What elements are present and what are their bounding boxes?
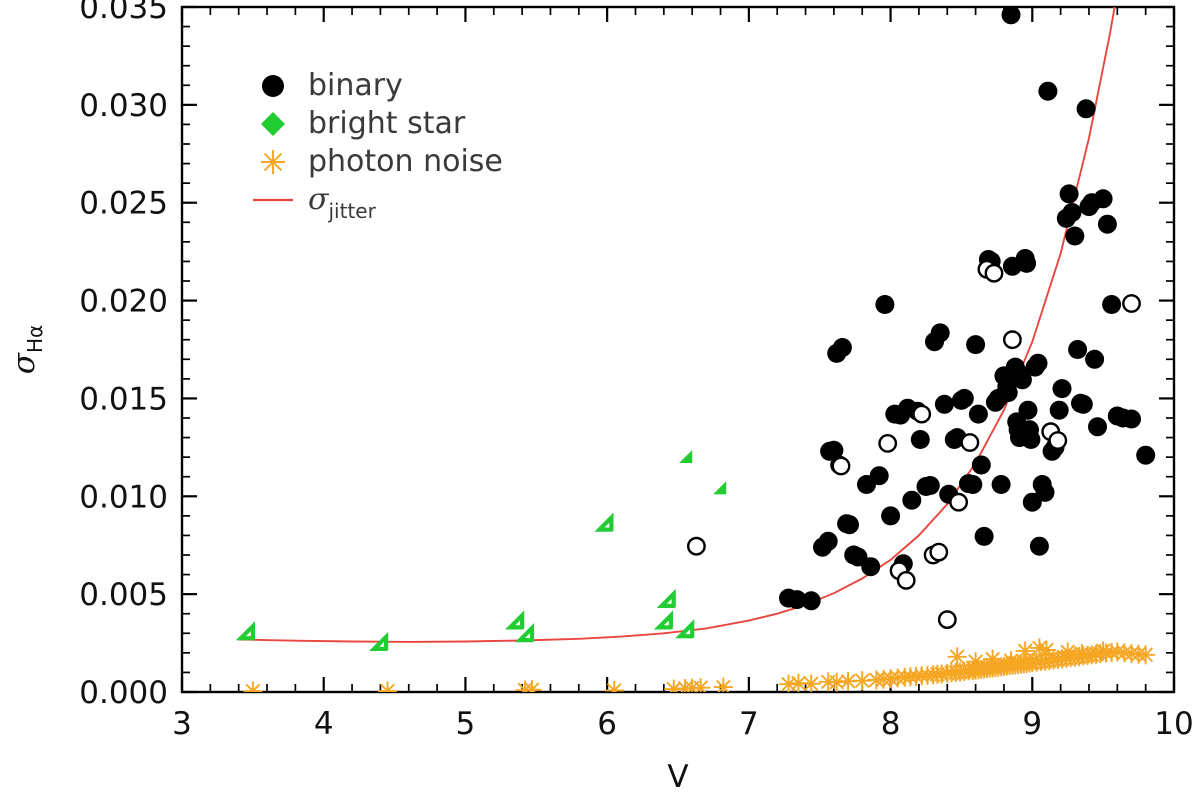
- bright-star-open-marker: [662, 594, 674, 606]
- y-tick-label: 0.035: [79, 0, 168, 26]
- binary-marker: [1136, 446, 1155, 465]
- bright-star-open-marker: [241, 626, 253, 638]
- scatter-plot-canvas: 345678910 0.0000.0050.0100.0150.0200.025…: [0, 0, 1200, 805]
- photon-noise-marker: [1016, 641, 1035, 660]
- binary-marker: [1098, 215, 1117, 234]
- legend-label: σjitter: [308, 182, 377, 223]
- binary-marker: [802, 591, 821, 610]
- y-tick-label: 0.005: [79, 577, 168, 613]
- binary-marker: [1050, 401, 1069, 420]
- binary-marker: [999, 383, 1018, 402]
- bright-star-marker: [713, 481, 726, 494]
- photon-noise-marker: [1072, 644, 1091, 663]
- y-tick-label: 0.010: [79, 479, 168, 515]
- binary-marker: [875, 295, 894, 314]
- binary-marker: [972, 456, 991, 475]
- x-axis-title: V: [667, 759, 688, 795]
- y-axis-tick-labels: 0.0000.0050.0100.0150.0200.0250.0300.035: [79, 0, 168, 711]
- bright-star-open-marker: [374, 637, 386, 649]
- legend-item-bright-star: bright star: [261, 106, 466, 141]
- figure-root: 345678910 0.0000.0050.0100.0150.0200.025…: [0, 0, 1200, 805]
- binary-marker: [1053, 379, 1072, 398]
- binary-open-marker: [880, 435, 896, 451]
- binary-marker: [819, 532, 838, 551]
- y-tick-label: 0.000: [79, 675, 168, 711]
- photon-noise-marker: [243, 682, 262, 701]
- x-tick-label: 3: [172, 706, 192, 742]
- x-tick-label: 6: [597, 706, 617, 742]
- binary-marker: [1122, 410, 1141, 429]
- binary-open-marker: [962, 434, 978, 450]
- legend-binary-icon: [262, 75, 284, 97]
- photon-noise-marker: [983, 650, 1002, 669]
- photon-noise-marker: [779, 675, 798, 694]
- y-tick-label: 0.030: [79, 88, 168, 124]
- binary-marker: [1036, 483, 1055, 502]
- binary-marker: [881, 506, 900, 525]
- binary-marker: [902, 491, 921, 510]
- legend-item-photon-noise: photon noise: [261, 144, 503, 179]
- bright-star-open-marker: [510, 615, 522, 627]
- y-tick-label: 0.020: [79, 284, 168, 320]
- binary-marker: [1029, 354, 1048, 373]
- binary-open-marker: [1050, 432, 1066, 448]
- legend-label: photon noise: [308, 144, 503, 179]
- binary-marker: [911, 430, 930, 449]
- binary-marker: [969, 405, 988, 424]
- photon-noise-marker: [714, 678, 733, 697]
- photon-noise-marker: [1136, 645, 1155, 664]
- binary-marker: [1065, 227, 1084, 246]
- binary-marker: [861, 557, 880, 576]
- x-tick-label: 5: [456, 706, 476, 742]
- x-tick-label: 4: [314, 706, 334, 742]
- binary-open-marker: [898, 572, 914, 588]
- binary-marker: [1060, 184, 1079, 203]
- binary-marker: [1085, 350, 1104, 369]
- binary-open-marker: [950, 494, 966, 510]
- photon-noise-marker: [691, 678, 710, 697]
- binary-marker: [1077, 99, 1096, 118]
- binary-marker: [1063, 203, 1082, 222]
- bright-star-marker: [679, 450, 692, 463]
- photon-noise-marker: [605, 681, 624, 700]
- binary-marker: [1002, 5, 1021, 24]
- binary-marker: [840, 515, 859, 534]
- binary-marker: [992, 475, 1011, 494]
- x-tick-label: 8: [881, 706, 901, 742]
- legend-label: bright star: [308, 106, 466, 141]
- binary-marker: [966, 335, 985, 354]
- binary-marker: [963, 475, 982, 494]
- photon-noise-marker: [1094, 641, 1113, 660]
- legend-item--jitter: σjitter: [253, 182, 377, 223]
- binary-marker: [931, 323, 950, 342]
- binary-marker: [1102, 295, 1121, 314]
- y-axis-title: σHα: [6, 325, 47, 374]
- legend-item-binary: binary: [262, 68, 403, 103]
- binary-marker: [870, 466, 889, 485]
- y-tick-label: 0.025: [79, 186, 168, 222]
- binary-marker: [1038, 82, 1057, 101]
- binary-marker: [1021, 430, 1040, 449]
- bright-star-open-marker: [520, 628, 532, 640]
- binary-marker: [1017, 254, 1036, 273]
- binary-open-marker: [939, 611, 955, 627]
- binary-open-marker: [986, 265, 1002, 281]
- binary-marker: [1068, 340, 1087, 359]
- x-tick-label: 7: [739, 706, 759, 742]
- binary-marker: [833, 338, 852, 357]
- binary-open-marker: [1123, 295, 1139, 311]
- photon-noise-marker: [802, 674, 821, 693]
- photon-noise-marker: [1058, 642, 1077, 661]
- legend-label: binary: [308, 68, 403, 103]
- photon-noise-marker: [1037, 640, 1056, 659]
- bright-star-open-marker: [659, 615, 671, 627]
- binary-marker: [935, 395, 954, 414]
- bright-star-open-marker: [599, 518, 611, 530]
- binary-open-marker: [833, 458, 849, 474]
- binary-marker: [1030, 537, 1049, 556]
- binary-marker: [1074, 395, 1093, 414]
- binary-open-marker: [914, 406, 930, 422]
- binary-open-marker: [688, 538, 704, 554]
- binary-marker: [1088, 417, 1107, 436]
- binary-open-marker: [931, 544, 947, 560]
- binary-marker: [955, 389, 974, 408]
- legend-bright-star-icon: [261, 112, 285, 136]
- binary-open-marker: [1004, 332, 1020, 348]
- binary-marker: [975, 527, 994, 546]
- x-tick-label: 9: [1022, 706, 1042, 742]
- photon-noise-marker: [966, 652, 985, 671]
- x-tick-label: 10: [1154, 706, 1193, 742]
- legend: binarybright starphoton noiseσjitter: [253, 68, 503, 223]
- y-tick-label: 0.015: [79, 381, 168, 417]
- binary-marker: [921, 476, 940, 495]
- svg-text:σHα: σHα: [6, 325, 47, 374]
- binary-marker: [1094, 189, 1113, 208]
- binary-marker: [1019, 401, 1038, 420]
- photon-noise-marker: [948, 647, 967, 666]
- photon-noise-marker: [378, 682, 397, 701]
- photon-noise-marker: [1002, 651, 1021, 670]
- x-axis-tick-labels: 345678910: [172, 706, 1194, 742]
- legend-photon-noise-icon: [261, 150, 285, 174]
- bright-star-open-marker: [680, 624, 692, 636]
- photon-noise-marker: [523, 680, 542, 699]
